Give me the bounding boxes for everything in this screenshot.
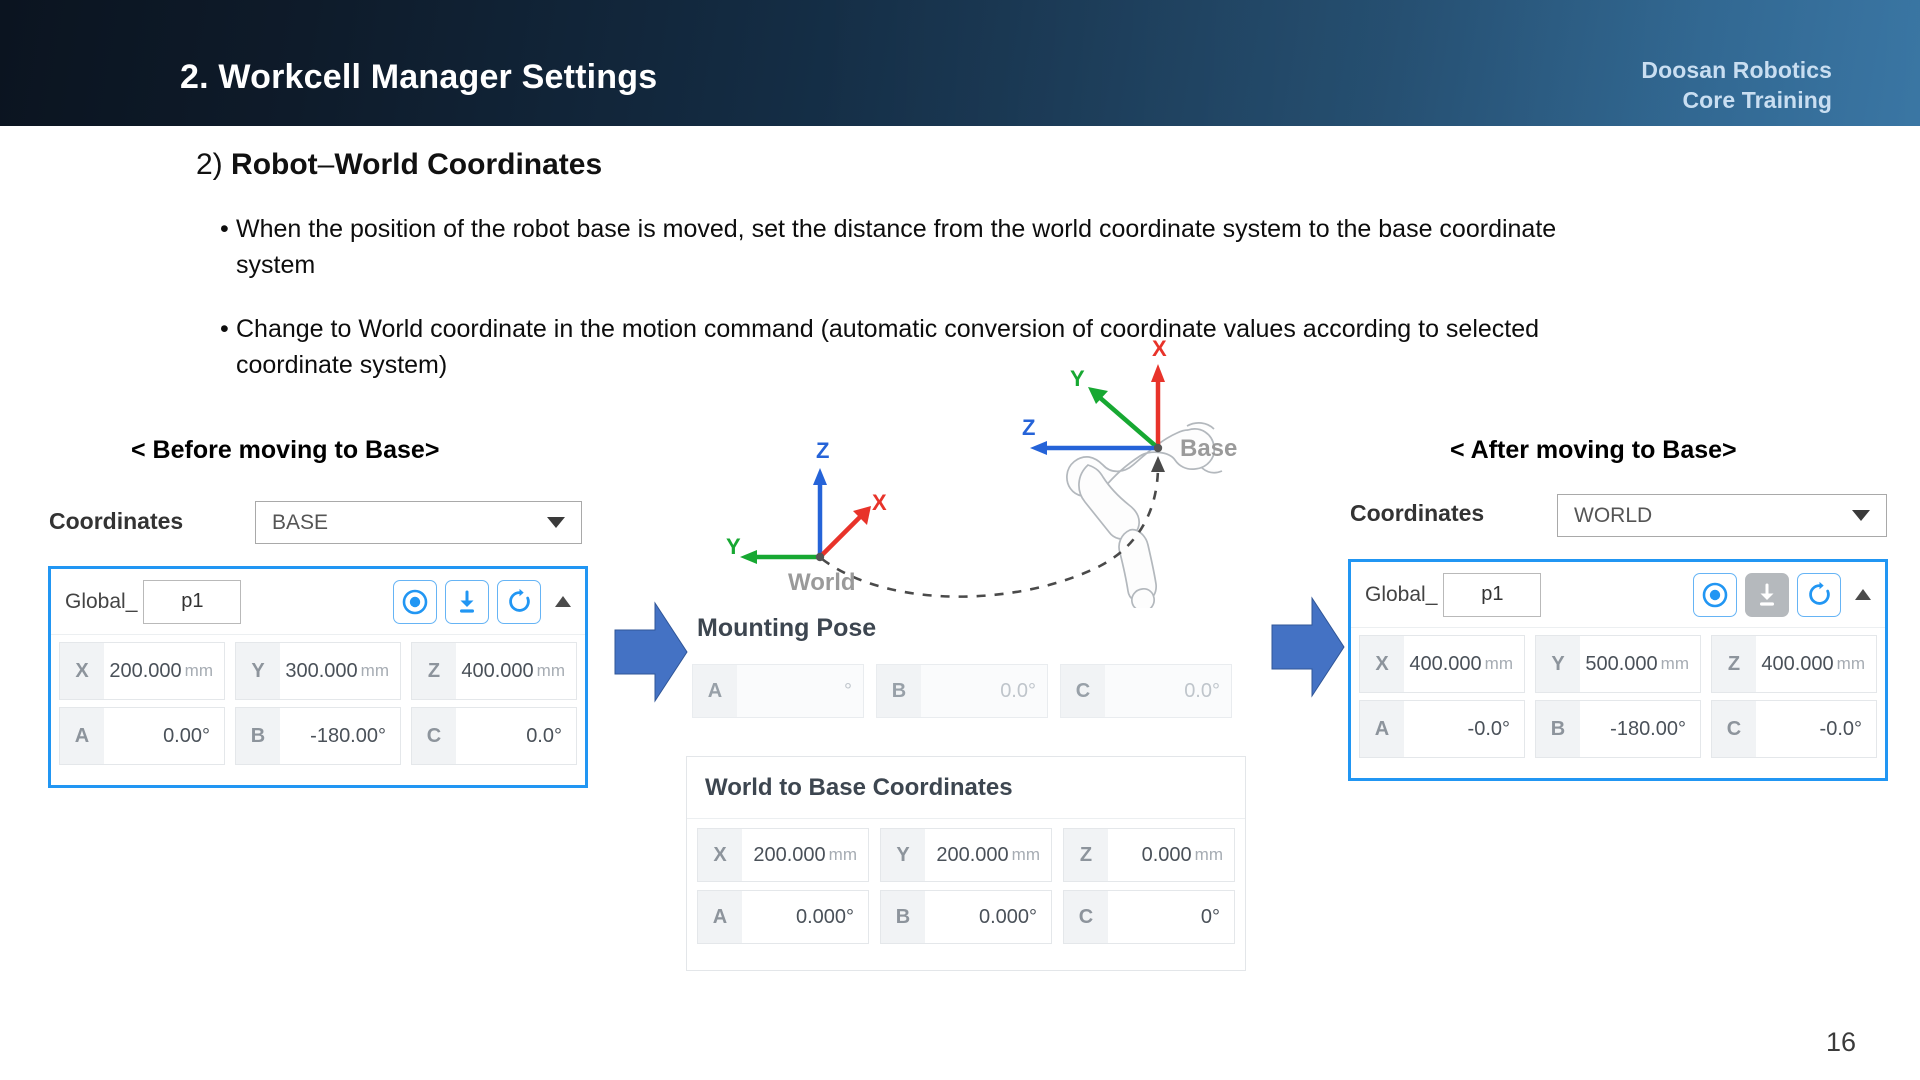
axis-value: 200.000mm bbox=[925, 829, 1051, 881]
world-to-base-row: X 200.000mm Y 200.000mm Z 0.000mm bbox=[697, 828, 1235, 882]
global-label: Global_ bbox=[1365, 583, 1437, 607]
svg-text:Z: Z bbox=[816, 438, 829, 463]
svg-text:Y: Y bbox=[1070, 366, 1085, 391]
pose-panel-header: Global_ p1 bbox=[1351, 562, 1885, 628]
chevron-up-icon[interactable] bbox=[1855, 589, 1871, 600]
page-number: 16 bbox=[1826, 1027, 1856, 1058]
world-base-diagram: Z Y X World X Y Z bbox=[690, 338, 1250, 608]
point-name-input[interactable]: p1 bbox=[143, 580, 241, 624]
motion-path-arrowhead bbox=[1151, 456, 1165, 472]
page-title-text: Workcell Manager Settings bbox=[218, 58, 657, 96]
axis-value: 0.0° bbox=[921, 665, 1047, 717]
section-title-b: World Coordinates bbox=[334, 148, 602, 181]
after-caption: < After moving to Base> bbox=[1450, 436, 1737, 465]
chevron-down-icon bbox=[547, 517, 565, 528]
axis-value: 400.000mm bbox=[1404, 636, 1524, 692]
pose-field[interactable]: B -180.00° bbox=[235, 707, 401, 765]
axis-label: Z bbox=[1064, 829, 1108, 881]
world-to-base-field[interactable]: B 0.000° bbox=[880, 890, 1052, 944]
brand-block: Doosan Robotics Core Training bbox=[1641, 55, 1832, 116]
svg-text:Base: Base bbox=[1180, 435, 1237, 462]
before-caption: < Before moving to Base> bbox=[131, 436, 439, 465]
axis-label: C bbox=[412, 708, 456, 764]
axis-value: 400.000mm bbox=[456, 643, 576, 699]
page-title: 2. Workcell Manager Settings bbox=[180, 58, 657, 97]
axis-value: 300.000mm bbox=[280, 643, 400, 699]
axis-value: ° bbox=[737, 665, 863, 717]
world-to-base-field[interactable]: C 0° bbox=[1063, 890, 1235, 944]
world-to-base-title: World to Base Coordinates bbox=[687, 757, 1245, 819]
svg-text:X: X bbox=[1152, 338, 1167, 361]
axis-value: 0° bbox=[1108, 891, 1234, 943]
svg-text:Z: Z bbox=[1022, 415, 1035, 440]
axis-value: 500.000mm bbox=[1580, 636, 1700, 692]
axis-value: 0.000° bbox=[925, 891, 1051, 943]
axis-label: Z bbox=[1712, 636, 1756, 692]
world-to-base-field[interactable]: Z 0.000mm bbox=[1063, 828, 1235, 882]
download-icon bbox=[1745, 573, 1789, 617]
section-title: 2) Robot–World Coordinates bbox=[196, 148, 602, 182]
pose-field[interactable]: X 400.000mm bbox=[1359, 635, 1525, 693]
mounting-pose-row: A ° B 0.0° C 0.0° bbox=[692, 664, 1232, 718]
pose-field-row: A -0.0° B -180.00° C -0.0° bbox=[1359, 700, 1877, 758]
bullet-marker: • bbox=[220, 212, 229, 248]
pose-panel-header: Global_ p1 bbox=[51, 569, 585, 635]
axis-label: B bbox=[236, 708, 280, 764]
base-frame: X Y Z Base bbox=[1022, 338, 1237, 462]
download-icon[interactable] bbox=[445, 580, 489, 624]
slide: 2. Workcell Manager Settings Doosan Robo… bbox=[0, 0, 1920, 1080]
section-title-dash: – bbox=[318, 148, 335, 181]
pose-field-grid: X 400.000mm Y 500.000mm Z 400.000mm A -0… bbox=[1351, 628, 1885, 766]
axis-value: 200.000mm bbox=[104, 643, 224, 699]
axis-value: 400.000mm bbox=[1756, 636, 1876, 692]
world-to-base-field[interactable]: A 0.000° bbox=[697, 890, 869, 944]
pose-field[interactable]: A 0.00° bbox=[59, 707, 225, 765]
axis-label: Z bbox=[412, 643, 456, 699]
axis-label: A bbox=[1360, 701, 1404, 757]
axis-value: -0.0° bbox=[1404, 701, 1524, 757]
pose-field-grid: X 200.000mm Y 300.000mm Z 400.000mm A 0.… bbox=[51, 635, 585, 773]
bullet-item: • When the position of the robot base is… bbox=[220, 212, 1640, 283]
mounting-pose-title: Mounting Pose bbox=[697, 614, 876, 643]
coordinates-label-left: Coordinates bbox=[49, 508, 183, 535]
brand-line-1: Doosan Robotics bbox=[1641, 55, 1832, 85]
svg-text:World: World bbox=[788, 569, 856, 596]
right-arrow-icon-2 bbox=[1270, 595, 1346, 704]
pose-field[interactable]: Y 500.000mm bbox=[1535, 635, 1701, 693]
axis-label: Y bbox=[236, 643, 280, 699]
world-to-base-card: World to Base Coordinates X 200.000mm Y … bbox=[686, 756, 1246, 971]
axis-label: Y bbox=[881, 829, 925, 881]
svg-text:Y: Y bbox=[726, 534, 741, 559]
axis-label: B bbox=[881, 891, 925, 943]
coordinates-select-left[interactable]: BASE bbox=[255, 501, 582, 544]
pose-panel-before: Global_ p1 bbox=[48, 566, 588, 788]
world-to-base-field[interactable]: Y 200.000mm bbox=[880, 828, 1052, 882]
pose-field[interactable]: A -0.0° bbox=[1359, 700, 1525, 758]
axis-label: B bbox=[1536, 701, 1580, 757]
point-name-input[interactable]: p1 bbox=[1443, 573, 1541, 617]
target-icon[interactable] bbox=[1693, 573, 1737, 617]
axis-value: 200.000mm bbox=[742, 829, 868, 881]
axis-label: Y bbox=[1536, 636, 1580, 692]
axis-label: X bbox=[60, 643, 104, 699]
axis-label: C bbox=[1712, 701, 1756, 757]
axis-label: A bbox=[698, 891, 742, 943]
pose-field[interactable]: Z 400.000mm bbox=[411, 642, 577, 700]
reset-icon[interactable] bbox=[1797, 573, 1841, 617]
world-to-base-grid: X 200.000mm Y 200.000mm Z 0.000mm A 0.00… bbox=[687, 819, 1245, 962]
world-to-base-row: A 0.000° B 0.000° C 0° bbox=[697, 890, 1235, 944]
world-frame: Z Y X World bbox=[726, 438, 887, 596]
pose-field[interactable]: B -180.00° bbox=[1535, 700, 1701, 758]
axis-value: 0.0° bbox=[1105, 665, 1231, 717]
axis-label: X bbox=[698, 829, 742, 881]
chevron-down-icon bbox=[1852, 510, 1870, 521]
axis-label: A bbox=[693, 665, 737, 717]
mounting-pose-field[interactable]: A ° bbox=[692, 664, 864, 718]
pose-field[interactable]: X 200.000mm bbox=[59, 642, 225, 700]
pose-field-row: X 200.000mm Y 300.000mm Z 400.000mm bbox=[59, 642, 577, 700]
mounting-pose-field[interactable]: C 0.0° bbox=[1060, 664, 1232, 718]
slide-header: 2. Workcell Manager Settings Doosan Robo… bbox=[0, 0, 1920, 126]
axis-value: 0.0° bbox=[456, 708, 576, 764]
bullet-text: When the position of the robot base is m… bbox=[220, 212, 1640, 283]
target-icon[interactable] bbox=[393, 580, 437, 624]
axis-label: B bbox=[877, 665, 921, 717]
chevron-up-icon[interactable] bbox=[555, 596, 571, 607]
brand-line-2: Core Training bbox=[1641, 85, 1832, 115]
axis-value: -180.00° bbox=[280, 708, 400, 764]
section-number: 2) bbox=[196, 148, 223, 181]
axis-value: 0.00° bbox=[104, 708, 224, 764]
axis-value: 0.000° bbox=[742, 891, 868, 943]
svg-text:X: X bbox=[872, 490, 887, 515]
section-title-a: Robot bbox=[231, 148, 318, 181]
axis-label: A bbox=[60, 708, 104, 764]
axis-value: 0.000mm bbox=[1108, 829, 1234, 881]
pose-field[interactable]: Y 300.000mm bbox=[235, 642, 401, 700]
mounting-pose-field[interactable]: B 0.0° bbox=[876, 664, 1048, 718]
axis-label: X bbox=[1360, 636, 1404, 692]
axis-value: -0.0° bbox=[1756, 701, 1876, 757]
page-title-number: 2. bbox=[180, 58, 209, 96]
pose-field[interactable]: Z 400.000mm bbox=[1711, 635, 1877, 693]
axis-label: C bbox=[1064, 891, 1108, 943]
axis-value: -180.00° bbox=[1580, 701, 1700, 757]
global-label: Global_ bbox=[65, 590, 137, 614]
coordinates-select-right-value: WORLD bbox=[1574, 504, 1852, 528]
pose-panel-after: Global_ p1 bbox=[1348, 559, 1888, 781]
coordinates-select-left-value: BASE bbox=[272, 511, 547, 535]
axis-label: C bbox=[1061, 665, 1105, 717]
pose-field[interactable]: C -0.0° bbox=[1711, 700, 1877, 758]
right-arrow-icon-1 bbox=[613, 600, 689, 709]
pose-field[interactable]: C 0.0° bbox=[411, 707, 577, 765]
reset-icon[interactable] bbox=[497, 580, 541, 624]
pose-field-row: X 400.000mm Y 500.000mm Z 400.000mm bbox=[1359, 635, 1877, 693]
world-to-base-field[interactable]: X 200.000mm bbox=[697, 828, 869, 882]
bullet-marker: • bbox=[220, 312, 229, 348]
coordinates-label-right: Coordinates bbox=[1350, 500, 1484, 527]
pose-field-row: A 0.00° B -180.00° C 0.0° bbox=[59, 707, 577, 765]
coordinates-select-right[interactable]: WORLD bbox=[1557, 494, 1887, 537]
